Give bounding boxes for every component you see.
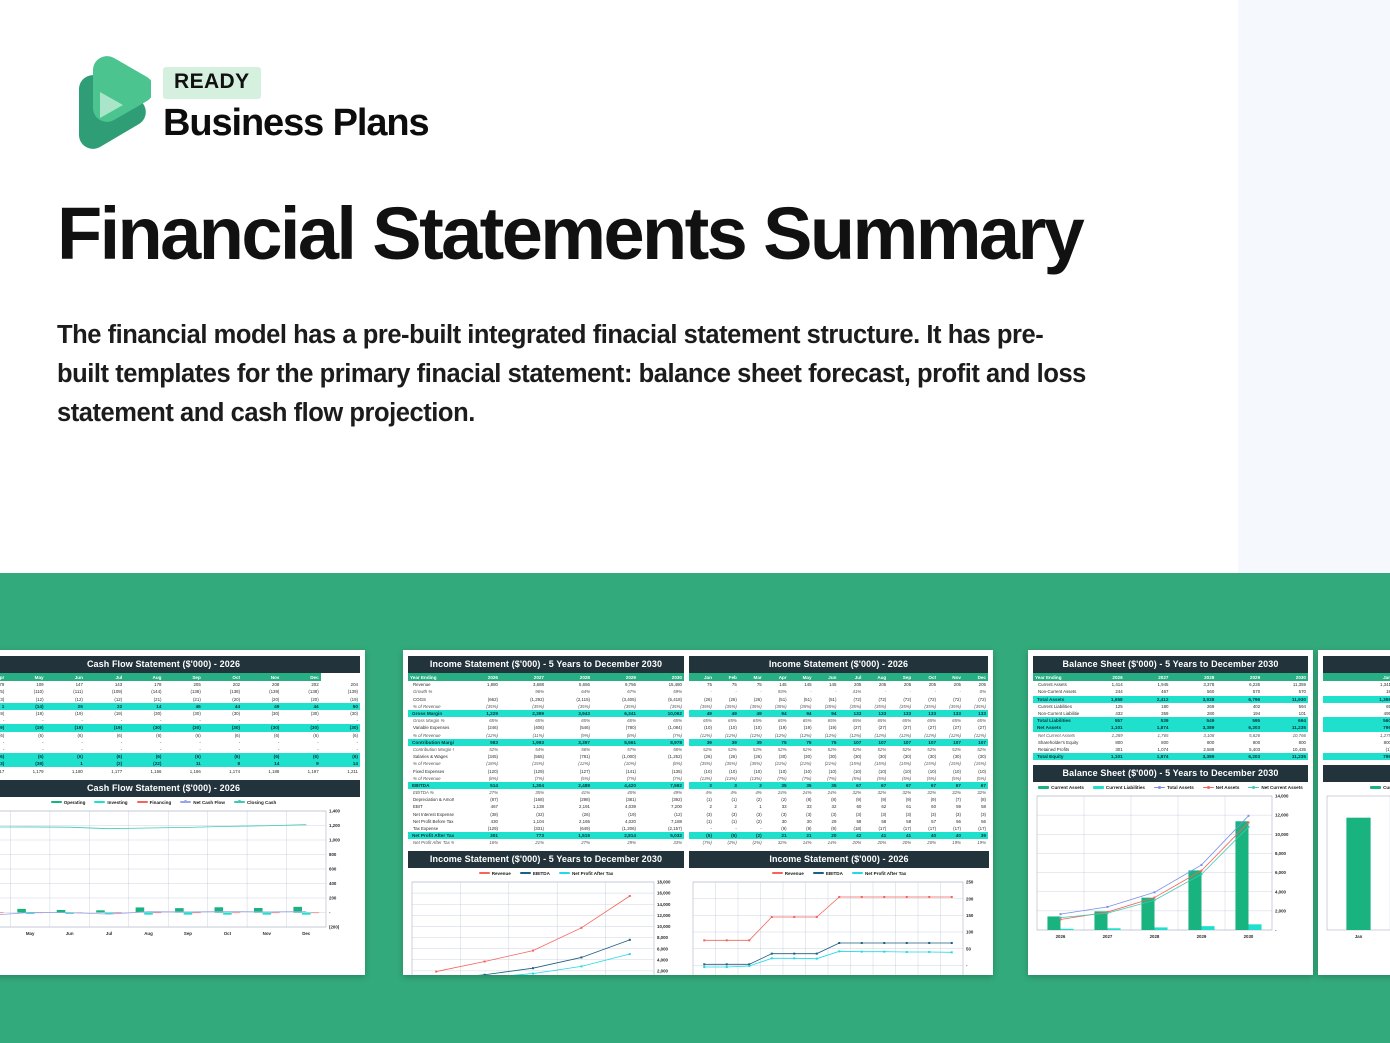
- column-header: Apr: [764, 673, 789, 681]
- table-cell: 4%: [714, 789, 739, 796]
- table-cell: -: [814, 688, 839, 695]
- table-cell: (7%): [789, 775, 814, 782]
- balance-chart-plot: 14,00012,00010,0008,0006,0004,0002,000-2…: [1033, 792, 1308, 942]
- table-cell: 32%: [838, 789, 863, 796]
- table-cell: 107: [838, 739, 863, 746]
- table-cell: 800: [1079, 739, 1125, 746]
- legend-swatch: [479, 872, 490, 875]
- card-balance-sheet[interactable]: Balance Sheet ($'000) - 5 Years to Decem…: [1028, 650, 1313, 975]
- table-cell: 269: [1170, 703, 1216, 710]
- table-cell: 4,039: [592, 803, 638, 810]
- svg-text:6,000: 6,000: [657, 946, 669, 951]
- table-cell: 3,108: [1170, 732, 1216, 739]
- table-cell: 27%: [546, 839, 592, 846]
- table-cell: 39: [963, 832, 988, 839]
- table-row: Fixed Expenses(120)(129)(127)(141)(135): [408, 767, 684, 774]
- table-cell: (3): [963, 811, 988, 818]
- column-header: Dec: [963, 673, 988, 681]
- row-label: COGS: [408, 696, 454, 703]
- table-cell: 49: [242, 703, 281, 710]
- table-row: 333353535676767676767: [689, 782, 988, 789]
- table-cell: 65%: [814, 717, 839, 724]
- table-row: Gross Margin %65%65%65%65%65%: [408, 717, 684, 724]
- row-label: Non-Current Liabilities: [1033, 710, 1079, 717]
- table-row: Retained Profits3011,0742,5895,40310,435: [1033, 746, 1308, 753]
- table-cell: 10,766: [1262, 732, 1308, 739]
- table-cell: 75: [764, 739, 789, 746]
- table-cell: (19): [789, 724, 814, 731]
- table-cell: 65%: [938, 717, 963, 724]
- table-cell: 514: [454, 782, 500, 789]
- table-cell: 19%: [938, 839, 963, 846]
- column-header: 2030: [638, 673, 684, 681]
- table-cell: 1,289: [1079, 732, 1125, 739]
- table-cell: -: [689, 688, 714, 695]
- table-cell: (6): [321, 753, 360, 760]
- svg-text:Oct: Oct: [224, 931, 232, 936]
- table-cell: (15%): [913, 760, 938, 767]
- table-cell: -: [321, 739, 360, 746]
- svg-text:400: 400: [329, 881, 337, 886]
- table-cell: (6): [321, 732, 360, 739]
- table-cell: 52%: [689, 746, 714, 753]
- table-cell: 4%: [739, 789, 764, 796]
- table-cell: (1,252): [638, 753, 684, 760]
- table-cell: 3: [739, 782, 764, 789]
- table-cell: (406): [500, 724, 546, 731]
- table-row: Salaries & Wages(345)(565)(781)(1,000)(1…: [408, 753, 684, 760]
- table-cell: (15%): [938, 760, 963, 767]
- table-cell: 2,165: [546, 818, 592, 825]
- table-row: (1)(1)(2)303029585858575656: [689, 818, 988, 825]
- table-cell: (9): [838, 796, 863, 803]
- table-cell: (35%): [500, 703, 546, 710]
- table-cell: -: [321, 717, 360, 724]
- legend-item: Net Current Assets: [1248, 785, 1302, 790]
- legend-label: Current Liabilities: [1106, 785, 1145, 790]
- table-cell: 75: [789, 739, 814, 746]
- table-cell: -: [85, 739, 124, 746]
- table-cell: 1,658: [1079, 696, 1125, 703]
- table-row: Variable Expenses(246)(406)(546)(780)(1,…: [408, 724, 684, 731]
- table-cell: 107: [888, 739, 913, 746]
- table-cell: 24%: [789, 789, 814, 796]
- table-cell: 65%: [789, 717, 814, 724]
- table-cell: (10): [689, 767, 714, 774]
- table-cell: 49: [739, 710, 764, 717]
- table-cell: (26): [689, 696, 714, 703]
- table-cell: (19): [592, 811, 638, 818]
- table-cell: (15%): [888, 760, 913, 767]
- table-header-row: JanFebMarAprMayJunJulAugSepOctNovDec: [689, 673, 988, 681]
- table-cell: (3): [913, 811, 938, 818]
- legend-label: EBITDA: [826, 871, 843, 876]
- table-cell: (30): [281, 724, 320, 731]
- table-cell: (35%): [888, 703, 913, 710]
- svg-text:12,000: 12,000: [657, 912, 671, 917]
- table-cell: 32%: [863, 789, 888, 796]
- table-cell: 64%: [546, 688, 592, 695]
- table-row: Non-Current Assets244467560570570: [1033, 688, 1308, 695]
- column-header: Nov: [242, 673, 281, 681]
- table-cell: 3: [714, 782, 739, 789]
- table-cell: (72): [838, 696, 863, 703]
- column-header: Nov: [938, 673, 963, 681]
- table-cell: (120): [454, 767, 500, 774]
- table-cell: 15,480: [638, 681, 684, 688]
- table-cell: 94: [814, 710, 839, 717]
- table-cell: 107: [913, 739, 938, 746]
- table-cell: (144): [124, 688, 163, 695]
- row-label: EBITDA %: [408, 789, 454, 796]
- table-cell: (8): [963, 796, 988, 803]
- table-cell: 4,020: [592, 818, 638, 825]
- column-header: May: [789, 673, 814, 681]
- table-cell: -: [739, 825, 764, 832]
- brand-logo[interactable]: READY Business Plans: [57, 56, 429, 154]
- legend-swatch: [180, 801, 191, 802]
- table-row: ----------: [0, 746, 360, 753]
- table-cell: -: [714, 688, 739, 695]
- table-cell: 539: [1125, 717, 1171, 724]
- table-cell: 40: [913, 832, 938, 839]
- table-row: (1)(1)(2)(2)(8)(8)(9)(9)(9)(9)(7)(8): [689, 796, 988, 803]
- table-cell: (5%): [863, 775, 888, 782]
- table-header-row: AprMayJunJulAugSepOctNovDec: [0, 673, 360, 681]
- table-cell: 1,341: [1323, 681, 1390, 688]
- table-cell: -: [203, 746, 242, 753]
- table-cell: (12): [46, 696, 85, 703]
- table-cell: 205: [163, 681, 202, 688]
- svg-text:8,000: 8,000: [657, 935, 669, 940]
- card-balance-sheet-monthly[interactable]: JanFeb 1,3411,32318361,3591,359657249548…: [1318, 650, 1390, 975]
- table-cell: (35%): [963, 703, 988, 710]
- table-cell: 301: [1079, 746, 1125, 753]
- table-row: Contribution Margin9831,9933,3975,5618,9…: [408, 739, 684, 746]
- table-row: (12%)(12%)(12%)(12%)(12%)(12%)(12%)(12%)…: [689, 732, 988, 739]
- income-monthly-chart-title: Income Statement ($'000) - 2026: [689, 851, 989, 868]
- table-cell: (7%): [638, 732, 684, 739]
- table-cell: 1,074: [1125, 746, 1171, 753]
- column-header: Jun: [46, 673, 85, 681]
- table-cell: (2): [739, 818, 764, 825]
- table-cell: 1,874: [1125, 724, 1171, 731]
- row-label: Gross Margin %: [408, 717, 454, 724]
- table-cell: 1,197: [281, 767, 320, 774]
- table-cell: (12%): [714, 732, 739, 739]
- legend-label: Financing: [150, 800, 172, 805]
- table-cell: 145: [764, 681, 789, 688]
- table-cell: 41%: [546, 789, 592, 796]
- table-cell: 402: [1216, 703, 1262, 710]
- table-cell: 58%: [638, 746, 684, 753]
- table-cell: (5%): [888, 775, 913, 782]
- table-cell: 205: [938, 681, 963, 688]
- table-cell: 20%: [913, 839, 938, 846]
- table-cell: 3,389: [1170, 753, 1216, 760]
- table-cell: -: [6, 717, 45, 724]
- table-cell: (7%): [500, 775, 546, 782]
- table-cell: (19): [46, 724, 85, 731]
- table-cell: (15%): [500, 760, 546, 767]
- table-cell: 16%: [454, 839, 500, 846]
- table-cell: (345): [454, 753, 500, 760]
- legend-label: Net Assets: [1216, 785, 1240, 790]
- legend-label: Closing Cash: [247, 800, 276, 805]
- table-row: % of Revenue(12%)(11%)(9%)(8%)(7%): [408, 732, 684, 739]
- legend-label: Investing: [107, 800, 127, 805]
- table-cell: 14%: [814, 839, 839, 846]
- table-cell: 56: [938, 818, 963, 825]
- table-cell: (11%): [500, 732, 546, 739]
- table-cell: (2%): [714, 839, 739, 846]
- table-cell: (19): [764, 724, 789, 731]
- legend-label: Net Profit After Tax: [572, 871, 613, 876]
- table-cell: 143: [85, 681, 124, 688]
- table-row: 495488: [1323, 710, 1390, 717]
- table-cell: (30): [242, 724, 281, 731]
- svg-text:14,000: 14,000: [657, 901, 671, 906]
- svg-text:Jul: Jul: [106, 931, 112, 936]
- table-cell: (19): [6, 710, 45, 717]
- legend-swatch: [1038, 786, 1049, 789]
- legend-item: Current Assets: [1370, 785, 1390, 790]
- table-row: Depreciation & Amortization(87)(168)(298…: [408, 796, 684, 803]
- table-cell: 46: [163, 703, 202, 710]
- table-cell: 39: [739, 739, 764, 746]
- table-cell: -: [242, 717, 281, 724]
- legend-item: Net Profit After Tax: [559, 871, 613, 876]
- table-row: 393939757575107107107107107107: [689, 739, 988, 746]
- table-cell: (35%): [789, 703, 814, 710]
- ready-badge: READY: [163, 67, 261, 99]
- table-cell: 5,032: [638, 832, 684, 839]
- table-cell: 65%: [714, 717, 739, 724]
- column-header: Sep: [163, 673, 202, 681]
- table-cell: (3): [838, 811, 863, 818]
- balance-chart-block: Balance Sheet ($'000) - 5 Years to Decem…: [1033, 765, 1308, 942]
- table-cell: 5,826: [1216, 732, 1262, 739]
- table-cell: (14): [6, 703, 45, 710]
- table-cell: (135): [638, 767, 684, 774]
- table-cell: (38): [454, 811, 500, 818]
- legend-item: Investing: [94, 800, 127, 805]
- legend-item: EBITDA: [520, 871, 550, 876]
- table-cell: (5): [689, 832, 714, 839]
- column-header: 2028: [1170, 673, 1216, 681]
- table-row: 494949949494133133133133133133: [689, 710, 988, 717]
- table-cell: (18): [838, 825, 863, 832]
- table-cell: (35%): [814, 703, 839, 710]
- table-cell: 35%: [500, 789, 546, 796]
- svg-text:2030: 2030: [1244, 934, 1254, 939]
- table-cell: 60: [838, 803, 863, 810]
- table-cell: (12%): [838, 732, 863, 739]
- table-cell: 6,203: [1216, 753, 1262, 760]
- table-cell: (13%): [739, 775, 764, 782]
- table-cell: 799: [1323, 724, 1390, 731]
- table-row: ---93%--41%----0%: [689, 688, 988, 695]
- table-cell: (27): [963, 724, 988, 731]
- table-row: (19)(19)(19)(19)(30)(30)(30)(30)(30)(30): [0, 710, 360, 717]
- table-row: 1,3591,359: [1323, 696, 1390, 703]
- table-cell: 60: [913, 803, 938, 810]
- table-cell: 430: [454, 818, 500, 825]
- table-cell: 7,188: [638, 818, 684, 825]
- table-cell: (5%): [546, 775, 592, 782]
- table-row: Net Assets1,1011,8743,3896,20311,235: [1033, 724, 1308, 731]
- table-cell: 14: [242, 760, 281, 767]
- table-cell: 6,203: [1216, 724, 1262, 731]
- table-cell: (19): [6, 724, 45, 731]
- table-cell: (17): [963, 825, 988, 832]
- table-cell: 1,945: [1125, 681, 1171, 688]
- legend-label: Net Current Assets: [1261, 785, 1302, 790]
- table-cell: (5): [714, 832, 739, 839]
- table-cell: 800: [1323, 739, 1390, 746]
- svg-text:8,000: 8,000: [1275, 851, 1287, 856]
- table-cell: (19): [46, 710, 85, 717]
- row-label: Non-Current Assets: [1033, 688, 1079, 695]
- column-header: Oct: [913, 673, 938, 681]
- svg-text:150: 150: [966, 912, 974, 917]
- table-cell: 65: [1323, 703, 1390, 710]
- svg-text:2026: 2026: [1056, 934, 1066, 939]
- table-cell: 21%: [500, 839, 546, 846]
- table-cell: (30): [203, 710, 242, 717]
- cashflow-chart-plot: 1,4001,2001,000800600400200-(200)AprMayJ…: [0, 807, 360, 939]
- table-cell: 3,688: [500, 681, 546, 688]
- row-label: Total Equity: [1033, 753, 1079, 760]
- table-cell: 29: [814, 818, 839, 825]
- table-cell: (30): [789, 753, 814, 760]
- row-label: % of Revenue: [408, 775, 454, 782]
- table-cell: -: [124, 717, 163, 724]
- svg-text:May: May: [26, 931, 35, 936]
- legend-label: Revenue: [785, 871, 804, 876]
- table-cell: 35: [789, 782, 814, 789]
- row-label: Shareholder's Equity: [1033, 739, 1079, 746]
- table-cell: 52%: [714, 746, 739, 753]
- table-cell: (72): [938, 696, 963, 703]
- table-cell: 20%: [838, 839, 863, 846]
- column-header: 2026: [1079, 673, 1125, 681]
- table-cell: (3): [789, 811, 814, 818]
- table-cell: (1): [689, 796, 714, 803]
- table-cell: (21%): [764, 760, 789, 767]
- table-cell: 467: [1125, 688, 1171, 695]
- income-monthly-chart-block: Income Statement ($'000) - 2026 RevenueE…: [689, 851, 989, 976]
- table-cell: (35%): [714, 760, 739, 767]
- table-cell: (8): [814, 796, 839, 803]
- table-cell: (30): [124, 724, 163, 731]
- table-cell: 202: [203, 681, 242, 688]
- table-cell: 67: [863, 782, 888, 789]
- table-cell: 2: [689, 803, 714, 810]
- column-header: 2026: [454, 673, 500, 681]
- table-cell: 20%: [863, 839, 888, 846]
- legend-swatch: [1248, 787, 1259, 788]
- table-cell: (21%): [814, 760, 839, 767]
- table-row: 4%4%4%24%24%24%32%32%32%32%32%32%: [689, 789, 988, 796]
- card-cash-flow[interactable]: Cash Flow Statement ($'000) - 2026 AprMa…: [0, 650, 365, 975]
- table-cell: (30): [242, 710, 281, 717]
- table-cell: 11: [163, 760, 202, 767]
- table-cell: 1,229: [454, 710, 500, 717]
- table-cell: 495: [1323, 710, 1390, 717]
- table-cell: (21): [163, 696, 202, 703]
- table-cell: 40: [938, 832, 963, 839]
- table-cell: 57: [913, 818, 938, 825]
- table-cell: (781): [546, 753, 592, 760]
- table-cell: -: [85, 746, 124, 753]
- table-cell: -: [888, 688, 913, 695]
- svg-text:1,200: 1,200: [329, 823, 341, 828]
- table-cell: 52%: [938, 746, 963, 753]
- cashflow-chart-title: Cash Flow Statement ($'000) - 2026: [0, 780, 360, 797]
- table-row: % of Revenue(18%)(15%)(12%)(10%)(8%): [408, 760, 684, 767]
- table-row: 560561: [1323, 717, 1390, 724]
- table-cell: (35%): [689, 760, 714, 767]
- table-row: Total Assets1,6582,4123,9386,79611,930: [1033, 696, 1308, 703]
- table-cell: 1,304: [500, 782, 546, 789]
- table-row: (5)(5)(2)212120424141404039: [689, 832, 988, 839]
- table-cell: (2,157): [638, 825, 684, 832]
- table-cell: 107: [863, 739, 888, 746]
- table-row: Current Liabilities125180269402594: [1033, 703, 1308, 710]
- column-header: Aug: [124, 673, 163, 681]
- table-row: (26)(26)(26)(30)(30)(30)(30)(30)(30)(30)…: [689, 753, 988, 760]
- table-cell: -: [714, 825, 739, 832]
- table-cell: 96%: [500, 688, 546, 695]
- legend-swatch: [559, 872, 570, 875]
- table-cell: 50: [321, 703, 360, 710]
- table-cell: (35%): [739, 760, 764, 767]
- table-cell: (30): [888, 753, 913, 760]
- svg-text:14,000: 14,000: [1275, 794, 1289, 799]
- table-row: EBITDA %27%35%41%45%49%: [408, 789, 684, 796]
- svg-text:10,000: 10,000: [1275, 832, 1289, 837]
- table-cell: (35%): [863, 703, 888, 710]
- table-cell: (2): [85, 760, 124, 767]
- table-row: Tax Expense(129)(331)(649)(1,206)(2,157): [408, 825, 684, 832]
- table-cell: (298): [546, 796, 592, 803]
- table-cell: (6): [281, 753, 320, 760]
- table-cell: 21: [764, 832, 789, 839]
- row-label: Contribution Margin: [408, 739, 454, 746]
- table-cell: 133: [938, 710, 963, 717]
- table-cell: 1,515: [546, 832, 592, 839]
- table-cell: (392): [638, 796, 684, 803]
- svg-text:(200): (200): [329, 924, 340, 929]
- table-cell: -: [6, 746, 45, 753]
- table-cell: 94: [789, 710, 814, 717]
- table-cell: 33: [789, 803, 814, 810]
- legend-swatch: [1203, 787, 1214, 788]
- table-cell: 301: [454, 832, 500, 839]
- table-cell: 39: [714, 739, 739, 746]
- table-cell: 560: [1323, 717, 1390, 724]
- svg-text:1,400: 1,400: [329, 808, 341, 813]
- table-cell: 147: [46, 681, 85, 688]
- table-cell: -: [242, 739, 281, 746]
- table-cell: -: [163, 739, 202, 746]
- table-cell: (8%): [638, 760, 684, 767]
- table-cell: 27%: [454, 789, 500, 796]
- table-cell: 52%: [739, 746, 764, 753]
- table-cell: 75: [689, 681, 714, 688]
- card-income-statement[interactable]: Income Statement ($'000) - 5 Years to De…: [403, 650, 993, 975]
